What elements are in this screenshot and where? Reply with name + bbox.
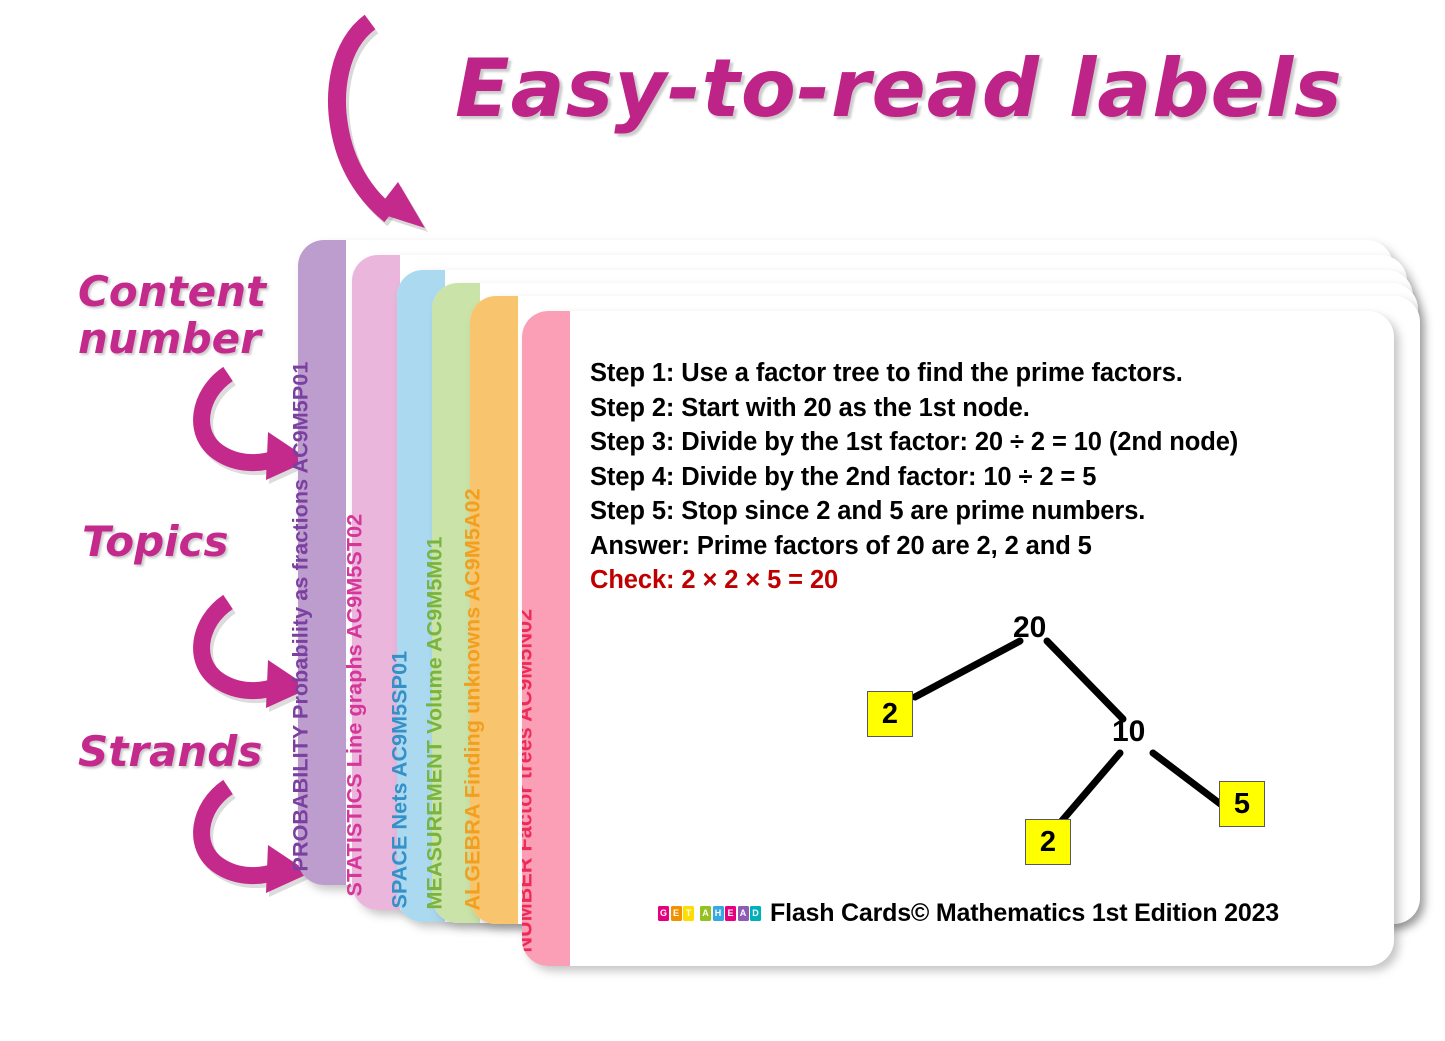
step-line: Step 5: Stop since 2 and 5 are prime num… (590, 494, 1376, 529)
poster-canvas: Easy-to-read labels Content number Topic… (0, 0, 1445, 1041)
card-spine-label: PROBABILITY Probability as fractions AC9… (291, 361, 313, 871)
step-line: Step 3: Divide by the 1st factor: 20 ÷ 2… (590, 425, 1376, 460)
tree-node-middle: 10 (1112, 715, 1145, 749)
logo-tile-g-0: G (658, 906, 669, 921)
card-spine-label: ALGEBRA Finding unknowns AC9M5A02 (463, 488, 485, 910)
tree-node-root: 20 (1013, 611, 1046, 645)
check-line: Check: 2 × 2 × 5 = 20 (590, 563, 1376, 598)
card-spine-label: NUMBER Factor trees AC9M5N02 (522, 608, 536, 952)
tree-leaf-5: 5 (1219, 781, 1265, 827)
card-spine-number: NUMBER Factor trees AC9M5N02 (522, 311, 570, 966)
flash-card-number-front[interactable]: NUMBER Factor trees AC9M5N02 Step 1: Use… (522, 311, 1394, 966)
annotation-content-number: Content number (78, 268, 266, 362)
step-line: Step 4: Divide by the 2nd factor: 10 ÷ 2… (590, 460, 1376, 495)
card-spine-label: SPACE Nets AC9M5SP01 (390, 650, 412, 908)
annotation-topics: Topics (82, 518, 228, 565)
card-spine-label: STATISTICS Line graphs AC9M5ST02 (345, 513, 367, 896)
step-line: Step 1: Use a factor tree to find the pr… (590, 356, 1376, 391)
logo-tile-e-5: E (725, 906, 736, 921)
step-line: Step 2: Start with 20 as the 1st node. (590, 391, 1376, 426)
factor-tree-edges (775, 611, 1255, 911)
logo-gap (696, 906, 699, 921)
logo-tile-h-4: H (713, 906, 724, 921)
annotation-strands: Strands (78, 728, 262, 775)
card-spine-algebra: ALGEBRA Finding unknowns AC9M5A02 (470, 296, 518, 924)
get-ahead-logo-icon: GETAHEAD (658, 906, 761, 921)
logo-tile-a-3: A (700, 906, 711, 921)
tree-leaf-2a: 2 (867, 691, 913, 737)
logo-tile-d-7: D (750, 906, 761, 921)
tree-leaf-2b: 2 (1025, 819, 1071, 865)
arrow-to-cards-icon (330, 22, 470, 237)
answer-line: Answer: Prime factors of 20 are 2, 2 and… (590, 529, 1376, 564)
card-spine-label: MEASUREMENT Volume AC9M5M01 (425, 536, 447, 909)
card-spine-probability: PROBABILITY Probability as fractions AC9… (298, 240, 346, 885)
logo-tile-e-1: E (671, 906, 682, 921)
logo-tile-t-2: T (683, 906, 694, 921)
card-front-body: Step 1: Use a factor tree to find the pr… (590, 356, 1376, 956)
card-footer: GETAHEAD Flash Cards© Mathematics 1st Ed… (658, 899, 1279, 928)
factor-tree-diagram: 20 2 10 2 5 (775, 611, 1255, 911)
steps-list: Step 1: Use a factor tree to find the pr… (590, 356, 1376, 598)
page-title: Easy-to-read labels (455, 42, 1343, 135)
logo-tile-a-6: A (738, 906, 749, 921)
footer-text: Flash Cards© Mathematics 1st Edition 202… (770, 899, 1279, 928)
